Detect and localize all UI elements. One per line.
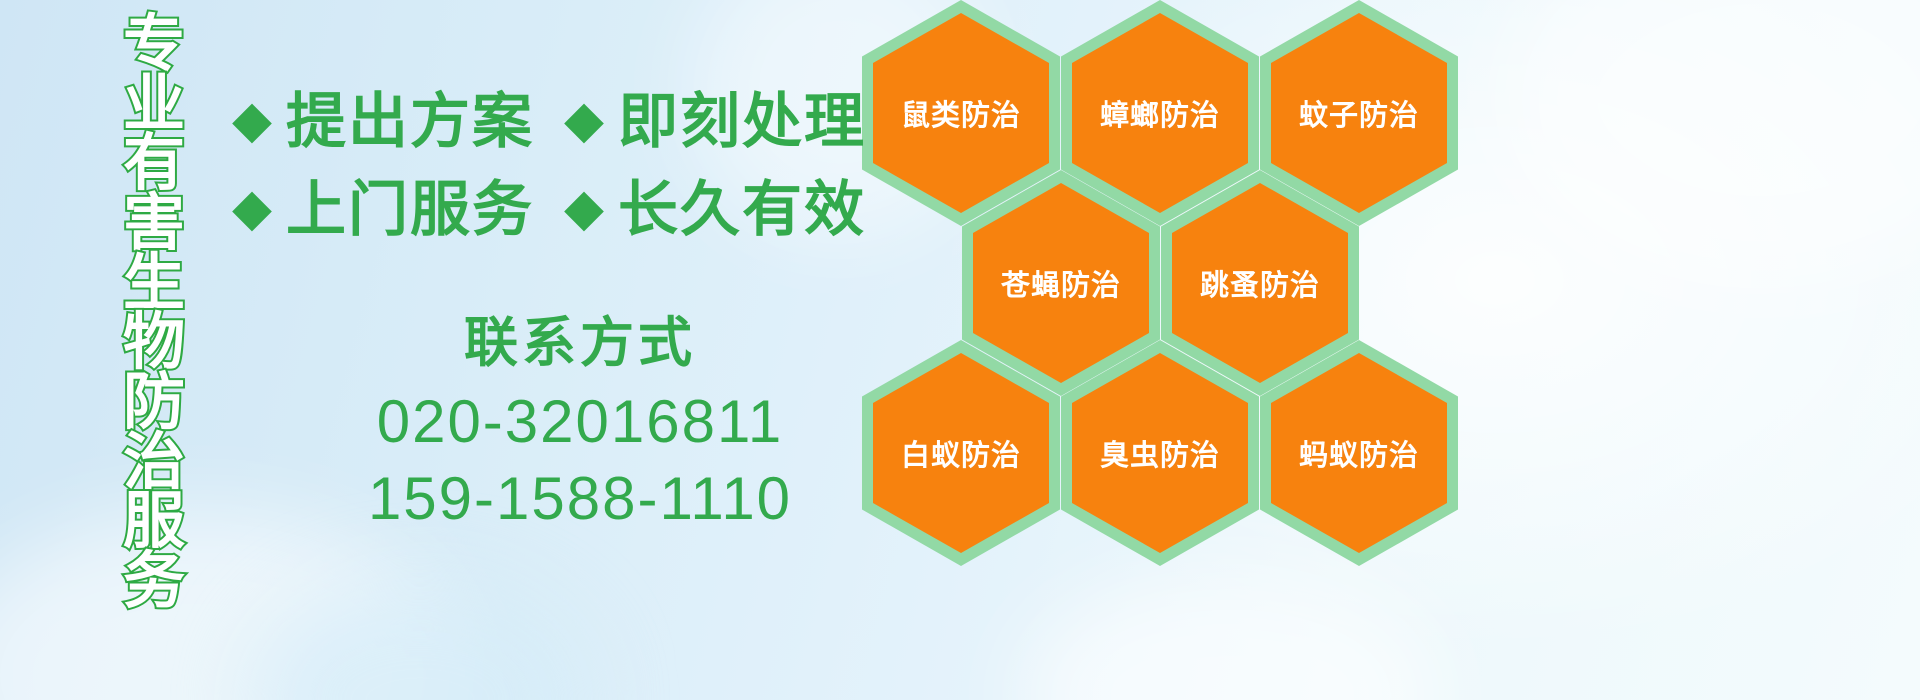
diamond-icon: ◆	[232, 182, 272, 234]
vertical-slogan-char: 治	[123, 434, 185, 492]
feature-item-propose-plan: ◆ 提出方案	[232, 92, 534, 152]
diamond-icon: ◆	[232, 94, 272, 146]
vertical-slogan-char: 有	[123, 135, 185, 193]
background-blob	[1500, 0, 1920, 290]
hex-inner: 苍蝇防治	[973, 183, 1149, 383]
vertical-slogan-char: 务	[123, 553, 185, 611]
hex-inner: 蚊子防治	[1271, 13, 1447, 213]
vertical-slogan-char: 防	[123, 374, 185, 432]
feature-label: 提出方案	[286, 92, 534, 152]
contact-block: 联系方式 020-32016811 159-1588-1110	[300, 312, 860, 538]
hex-label: 蟑螂防治	[1100, 92, 1220, 134]
vertical-slogan-char: 专	[123, 16, 185, 74]
hex-label: 蚂蚁防治	[1299, 432, 1419, 474]
diamond-icon: ◆	[564, 94, 604, 146]
hex-inner: 鼠类防治	[873, 13, 1049, 213]
hex-inner: 蟑螂防治	[1072, 13, 1248, 213]
hex-label: 苍蝇防治	[1001, 262, 1121, 304]
contact-phone-landline[interactable]: 020-32016811	[300, 384, 860, 461]
hex-label: 白蚁防治	[901, 432, 1021, 474]
background-blob	[0, 510, 460, 700]
feature-label: 上门服务	[286, 180, 534, 240]
vertical-slogan: 专 业 有 害 生 物 防 治 服 务	[112, 16, 196, 613]
feature-item-onsite-service: ◆ 上门服务	[232, 180, 534, 240]
contact-title: 联系方式	[300, 312, 860, 374]
hex-inner: 跳蚤防治	[1172, 183, 1348, 383]
feature-row: ◆ 上门服务 ◆ 长久有效	[232, 166, 866, 254]
background-blob	[250, 580, 590, 700]
background-blob	[1020, 570, 1440, 700]
feature-item-immediate-handling: ◆ 即刻处理	[564, 92, 866, 152]
hex-inner: 蚂蚁防治	[1271, 353, 1447, 553]
feature-label: 长久有效	[618, 180, 866, 240]
hex-inner: 白蚁防治	[873, 353, 1049, 553]
hex-inner: 臭虫防治	[1072, 353, 1248, 553]
vertical-slogan-char: 生	[123, 255, 185, 313]
hex-label: 跳蚤防治	[1200, 262, 1320, 304]
feature-list: ◆ 提出方案 ◆ 即刻处理 ◆ 上门服务 ◆ 长久有效	[232, 78, 866, 254]
diamond-icon: ◆	[564, 182, 604, 234]
vertical-slogan-char: 服	[123, 493, 185, 551]
feature-label: 即刻处理	[618, 92, 866, 152]
feature-row: ◆ 提出方案 ◆ 即刻处理	[232, 78, 866, 166]
hex-label: 蚊子防治	[1299, 92, 1419, 134]
vertical-slogan-char: 业	[123, 76, 185, 134]
hex-label: 臭虫防治	[1100, 432, 1220, 474]
service-hex-grid: 鼠类防治 蟑螂防治 蚊子防治 苍蝇防治 跳蚤防治 白蚁防治	[862, 0, 1462, 560]
contact-phone-mobile[interactable]: 159-1588-1110	[300, 461, 860, 538]
hex-label: 鼠类防治	[901, 92, 1021, 134]
feature-item-long-lasting: ◆ 长久有效	[564, 180, 866, 240]
promo-banner: 专 业 有 害 生 物 防 治 服 务 ◆ 提出方案 ◆ 即刻处理 ◆ 上门服务	[0, 0, 1920, 700]
vertical-slogan-char: 物	[123, 314, 185, 372]
vertical-slogan-char: 害	[123, 195, 185, 253]
